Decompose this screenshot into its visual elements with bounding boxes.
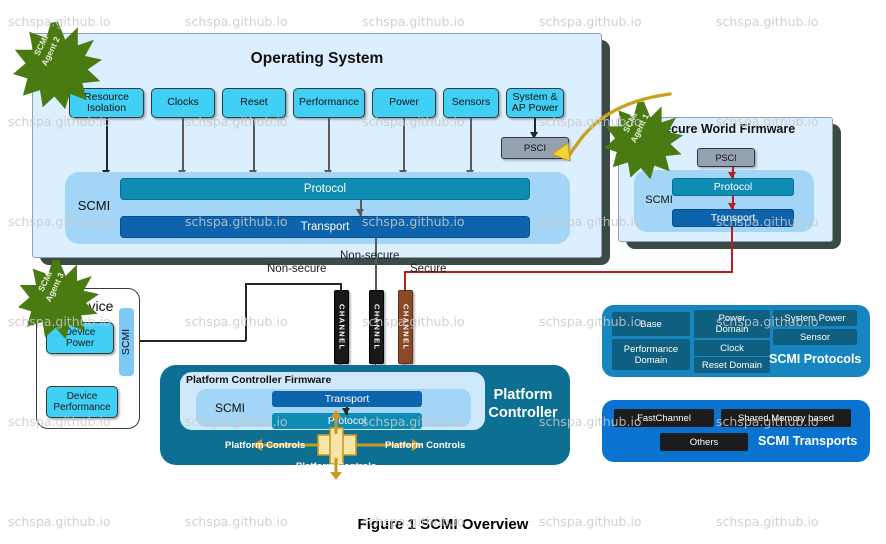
connector-resource-isolation — [106, 118, 108, 172]
legend-item-label: Performance Domain — [624, 344, 678, 366]
os-module-label: Sensors — [452, 97, 491, 109]
legend-item-label: FastChannel — [637, 413, 691, 424]
connector-reset — [253, 118, 255, 172]
platform-controller-title: Platform Controller — [480, 385, 566, 423]
line-device-v — [245, 283, 247, 341]
platform-controls-left-label: Platform Controls — [225, 440, 305, 451]
secure-world-protocol-box[interactable]: Protocol — [672, 178, 794, 196]
legend-item-label: System Power — [784, 313, 845, 324]
figure-caption: Figure 1 SCMI Overview — [0, 516, 886, 533]
legend-item-label: Base — [640, 319, 662, 330]
channel-label: CHANNEL — [372, 304, 380, 350]
line-sw-v — [731, 227, 733, 272]
channel-3-secure[interactable]: CHANNEL — [398, 290, 413, 364]
os-module-label: Reset — [240, 97, 267, 109]
arrowhead — [728, 203, 736, 210]
operating-system-title: Operating System — [32, 48, 602, 70]
arrowhead — [342, 408, 350, 415]
os-module-label: Power — [389, 97, 419, 109]
legend-item-label: Reset Domain — [702, 360, 762, 371]
scmi-agent-1-burst: SCMIAgent 1 — [604, 100, 684, 180]
secure-world-protocol-label: Protocol — [714, 181, 753, 193]
legend-protocol-system-power[interactable]: System Power — [773, 310, 857, 326]
legend-transport-shared-memory[interactable]: Shared Memory based — [721, 409, 851, 427]
channel-1-non-secure[interactable]: CHANNEL — [334, 290, 349, 364]
starburst-icon — [604, 100, 684, 180]
os-module-sensors[interactable]: Sensors — [443, 88, 499, 118]
platform-controller-transport-label: Transport — [325, 393, 370, 405]
os-module-label: Clocks — [167, 97, 199, 109]
legend-transports-title: SCMI Transports — [758, 434, 857, 448]
secure-world-transport-box[interactable]: Transport — [672, 209, 794, 227]
os-transport-label: Transport — [301, 221, 350, 233]
legend-protocols-title: SCMI Protocols — [769, 352, 861, 366]
os-protocol-box[interactable]: Protocol — [120, 178, 530, 200]
legend-protocol-power-domain[interactable]: Power Domain — [694, 310, 770, 338]
os-scmi-label: SCMI — [68, 196, 120, 214]
platform-controller-protocol-box[interactable]: Protocol — [272, 413, 422, 429]
label-non-secure-mid: Non-secure — [340, 250, 399, 262]
os-module-performance[interactable]: Performance — [293, 88, 365, 118]
os-module-reset[interactable]: Reset — [222, 88, 286, 118]
arrowhead — [356, 209, 364, 216]
platform-controls-bottom-label: Platform Controls — [296, 461, 376, 472]
scmi-agent-2-burst: SCMIAgent 2 — [12, 20, 104, 110]
connector-clocks — [182, 118, 184, 172]
legend-item-label: Sensor — [800, 332, 830, 343]
line-to-channel-3 — [404, 271, 406, 291]
device-scmi-label: SCMI — [121, 329, 133, 355]
channel-label: CHANNEL — [337, 304, 345, 350]
connector-power — [403, 118, 405, 172]
legend-protocol-performance-domain[interactable]: Performance Domain — [612, 339, 690, 370]
label-non-secure-left: Non-secure — [267, 263, 326, 275]
device-performance-box[interactable]: Device Performance — [46, 386, 118, 418]
channel-label: CHANNEL — [401, 304, 409, 350]
legend-transport-others[interactable]: Others — [660, 433, 748, 451]
line-sw-h — [404, 271, 733, 273]
legend-transport-fastchannel[interactable]: FastChannel — [614, 409, 714, 427]
legend-protocol-clock[interactable]: Clock — [694, 340, 770, 356]
platform-controller-scmi-label: SCMI — [205, 399, 255, 417]
os-module-power[interactable]: Power — [372, 88, 436, 118]
scmi-agent-3-burst: SCMIAgent 3 — [18, 258, 100, 340]
arrowhead — [728, 172, 736, 179]
legend-item-label: Clock — [720, 343, 744, 354]
os-transport-box[interactable]: Transport — [120, 216, 530, 238]
channel-2-non-secure[interactable]: CHANNEL — [369, 290, 384, 364]
legend-protocol-base[interactable]: Base — [612, 312, 690, 336]
connector-sensors — [470, 118, 472, 172]
starburst-icon — [18, 258, 100, 340]
line-os-to-channel-2 — [375, 238, 377, 290]
device-scmi-bar: SCMI — [119, 308, 134, 376]
line-device-top — [245, 283, 342, 285]
secure-world-transport-label: Transport — [711, 212, 756, 224]
label-secure: Secure — [410, 263, 446, 275]
os-module-clocks[interactable]: Clocks — [151, 88, 215, 118]
os-module-label: Performance — [299, 97, 359, 109]
line-device-h — [134, 340, 246, 342]
diagram-canvas: Operating System Resource Isolation Cloc… — [0, 0, 886, 544]
connector-performance — [328, 118, 330, 172]
platform-controls-right-label: Platform Controls — [385, 440, 465, 451]
legend-item-label: Power Domain — [716, 313, 749, 335]
os-protocol-label: Protocol — [304, 183, 346, 195]
legend-item-label: Shared Memory based — [738, 413, 834, 424]
platform-controller-firmware-title: Platform Controller Firmware — [186, 374, 426, 388]
device-performance-label: Device Performance — [53, 391, 110, 414]
legend-item-label: Others — [690, 437, 719, 448]
legend-protocol-sensor[interactable]: Sensor — [773, 329, 857, 345]
starburst-icon — [12, 20, 104, 110]
platform-controller-transport-box[interactable]: Transport — [272, 391, 422, 407]
legend-protocol-reset-domain[interactable]: Reset Domain — [694, 357, 770, 373]
